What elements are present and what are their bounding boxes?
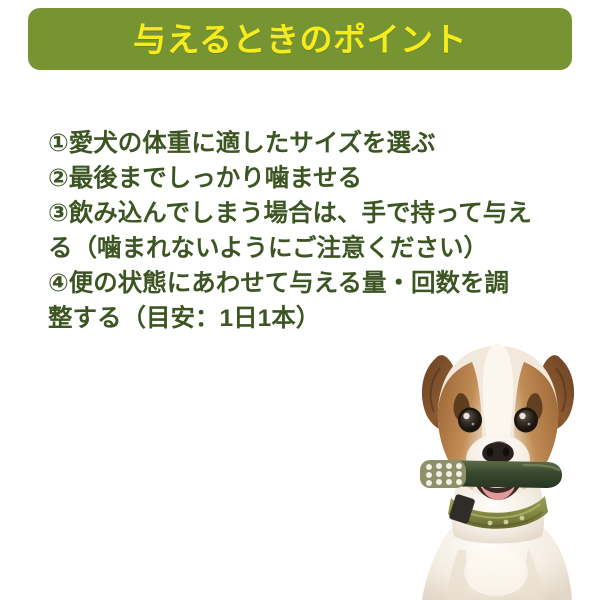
list-item: ①愛犬の体重に適したサイズを選ぶ: [48, 126, 560, 161]
list-item: 整する（目安：1日1本）: [48, 301, 560, 336]
list-item: ②最後までしっかり噛ませる: [48, 161, 560, 196]
list-item: ④便の状態にあわせて与える量・回数を調: [48, 266, 560, 301]
page-title: 与えるときのポイント: [133, 23, 467, 56]
list-item: る（噛まれないようにご注意ください）: [48, 231, 560, 266]
dog-photo: [396, 336, 600, 600]
list-item: ③飲み込んでしまう場合は、手で持って与え: [48, 196, 560, 231]
dental-chew-toy: [420, 460, 562, 488]
feeding-points-list: ①愛犬の体重に適したサイズを選ぶ ②最後までしっかり噛ませる ③飲み込んでしまう…: [48, 126, 560, 336]
product-info-card: 与えるときのポイント ①愛犬の体重に適したサイズを選ぶ ②最後までしっかり噛ませ…: [0, 0, 600, 600]
section-header-banner: 与えるときのポイント: [28, 8, 572, 70]
